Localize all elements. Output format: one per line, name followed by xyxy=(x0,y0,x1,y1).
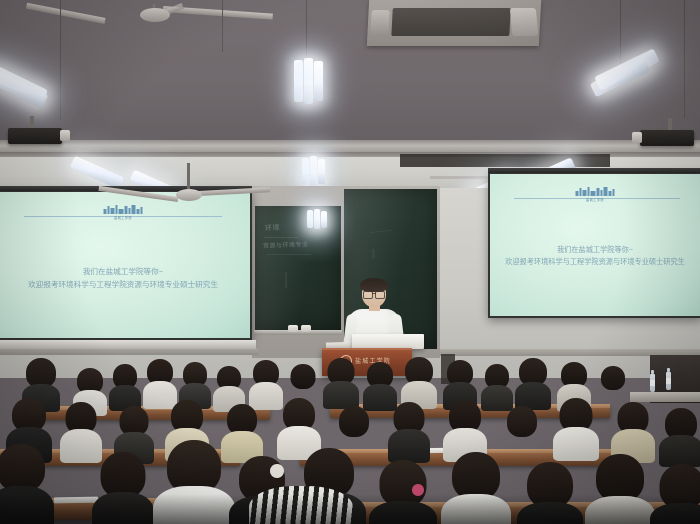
slide-content: 盐城工学院 我们在盐城工学院等你~ 欢迎报考环境科学与工程学院资源与环境专业硕士… xyxy=(0,192,250,338)
student xyxy=(24,358,58,402)
student xyxy=(518,358,548,402)
student xyxy=(326,358,356,402)
right-projection-screen: 盐城工学院 我们在盐城工学院等你~ 欢迎报考环境科学与工程学院资源与环境专业硕士… xyxy=(488,172,700,318)
student xyxy=(376,460,430,524)
glasses-icon xyxy=(363,291,385,297)
student xyxy=(524,462,576,524)
student xyxy=(664,408,698,462)
lamp-rod xyxy=(620,0,621,64)
student xyxy=(366,362,394,404)
student xyxy=(656,464,700,524)
ceiling-projector-icon xyxy=(640,130,694,146)
logo-caption: 盐城工学院 xyxy=(104,215,141,220)
ceiling-fan-icon xyxy=(128,185,248,207)
chalk-ledge xyxy=(254,330,342,335)
ceiling-fan-icon xyxy=(85,4,230,34)
student xyxy=(484,364,510,404)
student xyxy=(392,402,426,458)
student xyxy=(216,366,242,406)
student xyxy=(448,452,504,524)
university-logo-icon xyxy=(576,187,615,196)
student xyxy=(252,360,280,402)
logo-caption: 盐城工学院 xyxy=(576,197,613,202)
lamp-rod xyxy=(60,0,61,120)
lectern-surface xyxy=(352,334,424,349)
student xyxy=(98,452,148,524)
student xyxy=(162,440,226,524)
student xyxy=(592,454,648,524)
student xyxy=(446,360,474,402)
student xyxy=(226,404,258,460)
slide-line-2: 欢迎报考环境科学与工程学院资源与环境专业硕士研究生 xyxy=(0,279,250,291)
cassette-air-conditioner-icon xyxy=(367,0,541,46)
slide-line-2: 欢迎报考环境科学与工程学院资源与环境专业硕士研究生 xyxy=(490,256,700,267)
student xyxy=(258,486,344,524)
lamp-rod xyxy=(684,0,685,118)
eraser-icon xyxy=(288,325,298,332)
chalk-note: 环境 xyxy=(265,223,281,233)
slide-content: 盐城工学院 我们在盐城工学院等你~ 欢迎报考环境科学与工程学院资源与环境专业硕士… xyxy=(490,174,700,316)
eraser-icon xyxy=(301,325,311,332)
student xyxy=(64,402,98,458)
left-projection-screen: 盐城工学院 我们在盐城工学院等你~ 欢迎报考环境科学与工程学院资源与环境专业硕士… xyxy=(0,190,252,340)
student xyxy=(616,402,650,458)
desk-paper xyxy=(54,497,98,504)
chalk-note: 资源与环境专业 xyxy=(263,241,309,252)
student xyxy=(0,444,48,524)
blackboard-left-panel: 环境 资源与环境专业 xyxy=(255,206,341,330)
student xyxy=(182,362,208,402)
slide-line-1: 我们在盐城工学院等你~ xyxy=(0,266,250,278)
ceiling-projector-icon xyxy=(8,128,62,144)
student xyxy=(146,359,174,401)
lamp-rod xyxy=(306,0,307,60)
student xyxy=(448,400,482,458)
student xyxy=(112,364,138,404)
lamp-rod xyxy=(222,0,223,52)
student xyxy=(558,398,594,456)
stage-step xyxy=(0,349,258,355)
audience-seating xyxy=(0,356,700,524)
student xyxy=(404,357,434,401)
lecture-hall-photo: 环境 资源与环境专业 xyxy=(0,0,700,524)
stage-ledge xyxy=(0,340,256,349)
student xyxy=(506,406,538,460)
slide-line-1: 我们在盐城工学院等你~ xyxy=(490,244,700,255)
student xyxy=(600,366,626,406)
wall-recess xyxy=(400,154,610,167)
